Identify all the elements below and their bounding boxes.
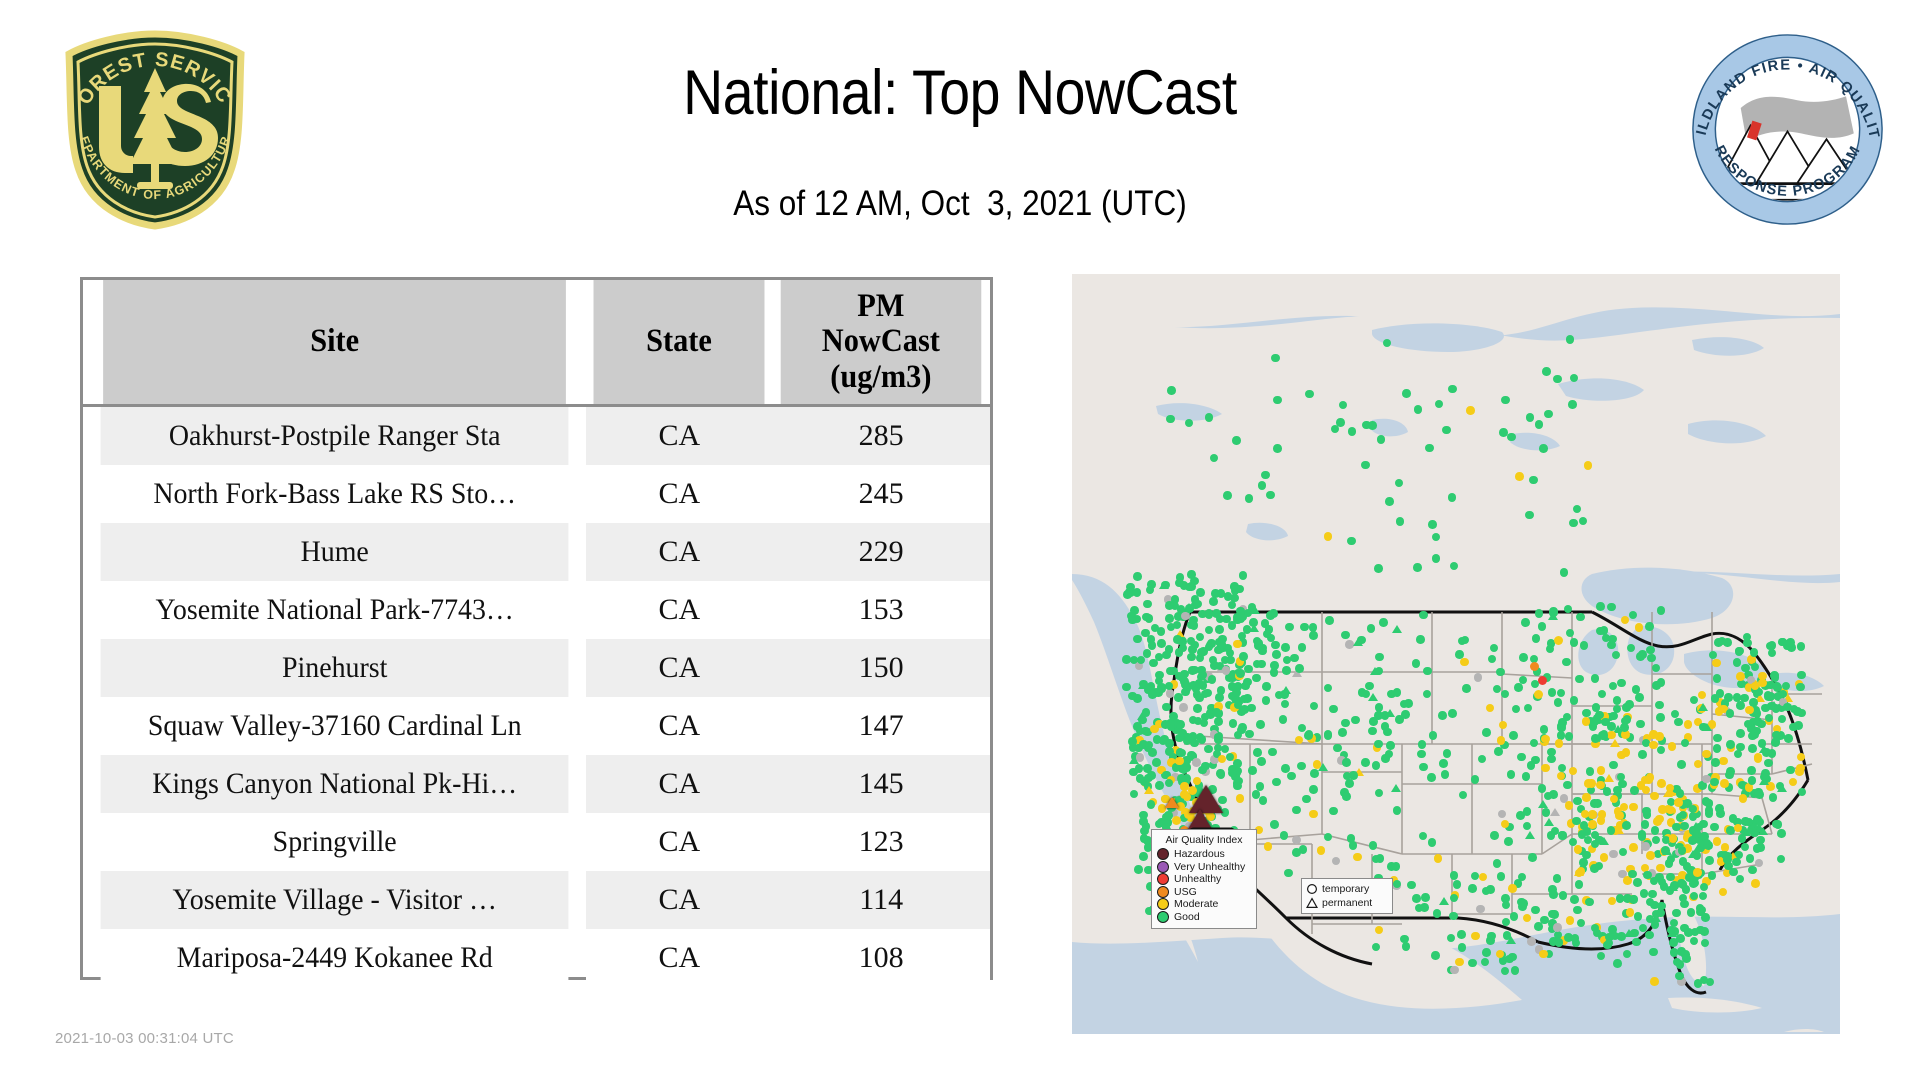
monitor-marker-temporary[interactable] bbox=[1218, 635, 1227, 644]
monitor-marker-temporary[interactable] bbox=[1674, 718, 1683, 727]
monitor-marker-temporary[interactable] bbox=[1724, 693, 1733, 702]
monitor-marker-temporary[interactable] bbox=[1497, 872, 1506, 881]
monitor-marker-temporary[interactable] bbox=[1290, 654, 1299, 663]
monitor-marker-temporary[interactable] bbox=[1407, 881, 1416, 890]
monitor-marker-temporary[interactable] bbox=[1622, 821, 1631, 830]
monitor-marker-temporary[interactable] bbox=[1272, 778, 1281, 787]
monitor-marker-temporary[interactable] bbox=[1750, 648, 1759, 657]
monitor-marker-temporary[interactable] bbox=[1248, 766, 1257, 775]
monitor-marker-temporary[interactable] bbox=[1148, 690, 1157, 699]
monitor-marker-permanent[interactable] bbox=[1249, 624, 1259, 632]
monitor-marker-temporary[interactable] bbox=[1450, 966, 1459, 975]
monitor-marker-temporary[interactable] bbox=[1736, 701, 1745, 710]
monitor-marker-temporary[interactable] bbox=[1757, 720, 1766, 729]
monitor-marker-temporary[interactable] bbox=[1741, 817, 1750, 826]
monitor-marker-temporary[interactable] bbox=[1133, 572, 1142, 581]
monitor-marker-temporary[interactable] bbox=[1783, 703, 1792, 712]
monitor-marker-temporary[interactable] bbox=[1128, 737, 1137, 746]
monitor-marker-temporary[interactable] bbox=[1736, 729, 1745, 738]
monitor-marker-temporary[interactable] bbox=[1574, 845, 1583, 854]
monitor-marker-permanent[interactable] bbox=[1604, 774, 1614, 782]
monitor-marker-temporary[interactable] bbox=[1429, 731, 1438, 740]
monitor-marker-temporary[interactable] bbox=[1526, 413, 1535, 422]
table-row[interactable]: Mariposa-2449 Kokanee RdCA108 bbox=[83, 929, 990, 987]
monitor-marker-temporary[interactable] bbox=[1162, 651, 1171, 660]
monitor-marker-temporary[interactable] bbox=[1143, 600, 1152, 609]
monitor-marker-temporary[interactable] bbox=[1341, 631, 1350, 640]
monitor-marker-temporary[interactable] bbox=[1145, 614, 1154, 623]
monitor-marker-temporary[interactable] bbox=[1764, 759, 1773, 768]
monitor-marker-temporary[interactable] bbox=[1412, 659, 1421, 668]
monitor-marker-temporary[interactable] bbox=[1565, 732, 1574, 741]
monitor-marker-temporary[interactable] bbox=[1700, 927, 1709, 936]
monitor-marker-temporary[interactable] bbox=[1272, 650, 1281, 659]
monitor-marker-temporary[interactable] bbox=[1641, 820, 1650, 829]
monitor-marker-temporary[interactable] bbox=[1657, 606, 1666, 615]
monitor-marker-permanent[interactable] bbox=[1281, 686, 1291, 694]
monitor-marker-permanent[interactable] bbox=[1250, 606, 1260, 614]
monitor-marker-temporary[interactable] bbox=[1374, 711, 1383, 720]
monitor-marker-temporary[interactable] bbox=[1600, 853, 1609, 862]
monitor-marker-temporary[interactable] bbox=[1766, 692, 1775, 701]
monitor-marker-temporary[interactable] bbox=[1413, 563, 1422, 572]
monitor-marker-temporary[interactable] bbox=[1482, 728, 1491, 737]
table-row[interactable]: HumeCA229 bbox=[83, 523, 990, 581]
monitor-marker-temporary[interactable] bbox=[1735, 647, 1744, 656]
monitor-marker-temporary[interactable] bbox=[1284, 869, 1293, 878]
monitor-marker-temporary[interactable] bbox=[1738, 834, 1747, 843]
monitor-marker-temporary[interactable] bbox=[1172, 816, 1181, 825]
table-row[interactable]: Kings Canyon National Pk-Hi…CA145 bbox=[83, 755, 990, 813]
monitor-marker-temporary[interactable] bbox=[1529, 476, 1538, 485]
monitor-marker-temporary[interactable] bbox=[1338, 728, 1347, 737]
monitor-marker-temporary[interactable] bbox=[1762, 748, 1771, 757]
monitor-marker-temporary[interactable] bbox=[1733, 658, 1742, 667]
monitor-marker-temporary[interactable] bbox=[1252, 674, 1261, 683]
monitor-marker-temporary[interactable] bbox=[1341, 719, 1350, 728]
monitor-marker-temporary[interactable] bbox=[1210, 661, 1219, 670]
monitor-marker-temporary[interactable] bbox=[1603, 787, 1612, 796]
monitor-marker-temporary[interactable] bbox=[1166, 667, 1175, 676]
monitor-marker-permanent[interactable] bbox=[1663, 789, 1673, 797]
monitor-marker-temporary[interactable] bbox=[1504, 837, 1513, 846]
monitor-marker-temporary[interactable] bbox=[1134, 865, 1143, 874]
monitor-marker-temporary[interactable] bbox=[1584, 461, 1593, 470]
monitor-marker-temporary[interactable] bbox=[1554, 698, 1563, 707]
monitor-marker-temporary[interactable] bbox=[1177, 774, 1186, 783]
monitor-marker-temporary[interactable] bbox=[1740, 694, 1749, 703]
monitor-marker-temporary[interactable] bbox=[1713, 674, 1722, 683]
monitor-marker-temporary[interactable] bbox=[1468, 884, 1477, 893]
monitor-marker-temporary[interactable] bbox=[1325, 616, 1334, 625]
monitor-marker-temporary[interactable] bbox=[1702, 750, 1711, 759]
monitor-marker-temporary[interactable] bbox=[1428, 520, 1437, 529]
column-header-site[interactable]: Site bbox=[103, 280, 566, 406]
monitor-marker-temporary[interactable] bbox=[1635, 693, 1644, 702]
monitor-marker-temporary[interactable] bbox=[1508, 884, 1517, 893]
monitor-marker-temporary[interactable] bbox=[1748, 732, 1757, 741]
monitor-marker-temporary[interactable] bbox=[1383, 728, 1392, 737]
monitor-marker-temporary[interactable] bbox=[1689, 812, 1698, 821]
table-row[interactable]: Oakhurst-Postpile Ranger StaCA285 bbox=[83, 406, 990, 466]
monitor-marker-temporary[interactable] bbox=[1270, 661, 1279, 670]
monitor-marker-temporary[interactable] bbox=[1636, 720, 1645, 729]
monitor-marker-temporary[interactable] bbox=[1333, 744, 1342, 753]
monitor-marker-temporary[interactable] bbox=[1746, 854, 1755, 863]
monitor-marker-permanent[interactable] bbox=[1187, 809, 1213, 831]
table-row[interactable]: Yosemite National Park-7743…CA153 bbox=[83, 581, 990, 639]
monitor-marker-temporary[interactable] bbox=[1438, 711, 1447, 720]
monitor-marker-temporary[interactable] bbox=[1657, 779, 1666, 788]
monitor-marker-temporary[interactable] bbox=[1157, 685, 1166, 694]
monitor-marker-temporary[interactable] bbox=[1457, 930, 1466, 939]
table-row[interactable]: Yosemite Village - Visitor …CA114 bbox=[83, 871, 990, 929]
monitor-marker-temporary[interactable] bbox=[1386, 741, 1395, 750]
monitor-marker-temporary[interactable] bbox=[1375, 653, 1384, 662]
monitor-marker-temporary[interactable] bbox=[1579, 858, 1588, 867]
monitor-marker-temporary[interactable] bbox=[1428, 838, 1437, 847]
monitor-marker-temporary[interactable] bbox=[1703, 839, 1712, 848]
monitor-marker-temporary[interactable] bbox=[1357, 636, 1366, 645]
monitor-marker-temporary[interactable] bbox=[1417, 750, 1426, 759]
monitor-marker-temporary[interactable] bbox=[1559, 891, 1568, 900]
monitor-marker-permanent[interactable] bbox=[1538, 800, 1548, 808]
monitor-marker-temporary[interactable] bbox=[1713, 837, 1722, 846]
monitor-marker-temporary[interactable] bbox=[1522, 772, 1531, 781]
monitor-marker-temporary[interactable] bbox=[1542, 367, 1551, 376]
monitor-marker-permanent[interactable] bbox=[1138, 681, 1148, 689]
monitor-marker-temporary[interactable] bbox=[1541, 735, 1550, 744]
monitor-marker-temporary[interactable] bbox=[1715, 804, 1724, 813]
monitor-marker-temporary[interactable] bbox=[1280, 831, 1289, 840]
monitor-marker-temporary[interactable] bbox=[1557, 772, 1566, 781]
monitor-marker-temporary[interactable] bbox=[1701, 913, 1710, 922]
monitor-marker-temporary[interactable] bbox=[1666, 873, 1675, 882]
monitor-marker-temporary[interactable] bbox=[1732, 858, 1741, 867]
monitor-marker-temporary[interactable] bbox=[1392, 862, 1401, 871]
monitor-marker-temporary[interactable] bbox=[1402, 389, 1411, 398]
monitor-marker-temporary[interactable] bbox=[1705, 856, 1714, 865]
monitor-marker-temporary[interactable] bbox=[1547, 831, 1556, 840]
monitor-marker-temporary[interactable] bbox=[1229, 719, 1238, 728]
monitor-marker-temporary[interactable] bbox=[1646, 851, 1655, 860]
monitor-marker-temporary[interactable] bbox=[1555, 938, 1564, 947]
monitor-marker-permanent[interactable] bbox=[1506, 936, 1516, 944]
monitor-marker-temporary[interactable] bbox=[1232, 688, 1241, 697]
monitor-marker-temporary[interactable] bbox=[1565, 801, 1574, 810]
monitor-marker-temporary[interactable] bbox=[1133, 635, 1142, 644]
monitor-marker-temporary[interactable] bbox=[1167, 386, 1176, 395]
monitor-marker-permanent[interactable] bbox=[1544, 818, 1554, 826]
monitor-marker-temporary[interactable] bbox=[1613, 696, 1622, 705]
monitor-marker-temporary[interactable] bbox=[1215, 625, 1224, 634]
monitor-marker-temporary[interactable] bbox=[1224, 592, 1233, 601]
monitor-marker-temporary[interactable] bbox=[1518, 902, 1527, 911]
monitor-marker-temporary[interactable] bbox=[1197, 648, 1206, 657]
monitor-marker-temporary[interactable] bbox=[1185, 583, 1194, 592]
table-row[interactable]: PinehurstCA150 bbox=[83, 639, 990, 697]
monitor-marker-temporary[interactable] bbox=[1317, 846, 1326, 855]
monitor-marker-temporary[interactable] bbox=[1617, 751, 1626, 760]
monitor-marker-temporary[interactable] bbox=[1496, 668, 1505, 677]
monitor-marker-temporary[interactable] bbox=[1570, 696, 1579, 705]
monitor-marker-temporary[interactable] bbox=[1187, 570, 1196, 579]
monitor-marker-temporary[interactable] bbox=[1769, 793, 1778, 802]
monitor-marker-temporary[interactable] bbox=[1279, 715, 1288, 724]
monitor-marker-temporary[interactable] bbox=[1395, 715, 1404, 724]
monitor-marker-temporary[interactable] bbox=[1478, 755, 1487, 764]
monitor-marker-temporary[interactable] bbox=[1153, 735, 1162, 744]
monitor-marker-temporary[interactable] bbox=[1216, 769, 1225, 778]
monitor-marker-temporary[interactable] bbox=[1476, 905, 1485, 914]
monitor-marker-temporary[interactable] bbox=[1562, 658, 1571, 667]
monitor-marker-temporary[interactable] bbox=[1772, 682, 1781, 691]
monitor-marker-temporary[interactable] bbox=[1313, 760, 1322, 769]
monitor-marker-temporary[interactable] bbox=[1262, 682, 1271, 691]
monitor-marker-temporary[interactable] bbox=[1176, 720, 1185, 729]
monitor-marker-temporary[interactable] bbox=[1273, 396, 1282, 405]
monitor-marker-temporary[interactable] bbox=[1514, 683, 1523, 692]
monitor-marker-temporary[interactable] bbox=[1421, 893, 1430, 902]
monitor-marker-temporary[interactable] bbox=[1596, 602, 1605, 611]
monitor-marker-permanent[interactable] bbox=[1662, 847, 1672, 855]
monitor-marker-temporary[interactable] bbox=[1233, 782, 1242, 791]
monitor-marker-temporary[interactable] bbox=[1232, 436, 1241, 445]
monitor-marker-temporary[interactable] bbox=[1509, 731, 1518, 740]
monitor-marker-temporary[interactable] bbox=[1555, 739, 1564, 748]
monitor-marker-temporary[interactable] bbox=[1193, 704, 1202, 713]
monitor-marker-temporary[interactable] bbox=[1608, 635, 1617, 644]
monitor-marker-temporary[interactable] bbox=[1573, 797, 1582, 806]
monitor-marker-temporary[interactable] bbox=[1677, 760, 1686, 769]
monitor-marker-temporary[interactable] bbox=[1690, 696, 1699, 705]
monitor-marker-temporary[interactable] bbox=[1693, 829, 1702, 838]
monitor-marker-temporary[interactable] bbox=[1214, 733, 1223, 742]
monitor-marker-temporary[interactable] bbox=[1300, 623, 1309, 632]
monitor-marker-temporary[interactable] bbox=[1179, 703, 1188, 712]
monitor-marker-temporary[interactable] bbox=[1374, 740, 1383, 749]
monitor-marker-temporary[interactable] bbox=[1638, 750, 1647, 759]
monitor-marker-temporary[interactable] bbox=[1568, 400, 1577, 409]
monitor-marker-temporary[interactable] bbox=[1497, 736, 1506, 745]
monitor-marker-temporary[interactable] bbox=[1629, 803, 1638, 812]
monitor-marker-temporary[interactable] bbox=[1669, 938, 1678, 947]
monitor-marker-permanent[interactable] bbox=[1698, 703, 1708, 711]
monitor-marker-temporary[interactable] bbox=[1324, 532, 1333, 541]
monitor-marker-temporary[interactable] bbox=[1122, 683, 1131, 692]
monitor-marker-temporary[interactable] bbox=[1548, 910, 1557, 919]
monitor-marker-temporary[interactable] bbox=[1468, 959, 1477, 968]
monitor-marker-temporary[interactable] bbox=[1439, 759, 1448, 768]
monitor-marker-temporary[interactable] bbox=[1656, 909, 1665, 918]
monitor-marker-temporary[interactable] bbox=[1198, 735, 1207, 744]
monitor-marker-temporary[interactable] bbox=[1148, 748, 1157, 757]
monitor-marker-temporary[interactable] bbox=[1527, 937, 1536, 946]
monitor-marker-permanent[interactable] bbox=[1599, 837, 1609, 845]
monitor-marker-temporary[interactable] bbox=[1448, 709, 1457, 718]
monitor-marker-temporary[interactable] bbox=[1777, 829, 1786, 838]
monitor-marker-temporary[interactable] bbox=[1176, 573, 1185, 582]
monitor-marker-temporary[interactable] bbox=[1155, 781, 1164, 790]
monitor-marker-temporary[interactable] bbox=[1496, 950, 1505, 959]
monitor-marker-temporary[interactable] bbox=[1793, 707, 1802, 716]
monitor-marker-temporary[interactable] bbox=[1240, 695, 1249, 704]
monitor-marker-temporary[interactable] bbox=[1233, 759, 1242, 768]
monitor-marker-temporary[interactable] bbox=[1329, 807, 1338, 816]
monitor-marker-temporary[interactable] bbox=[1204, 745, 1213, 754]
monitor-marker-temporary[interactable] bbox=[1273, 444, 1282, 453]
monitor-marker-temporary[interactable] bbox=[1400, 935, 1409, 944]
monitor-marker-temporary[interactable] bbox=[1228, 769, 1237, 778]
monitor-marker-temporary[interactable] bbox=[1760, 773, 1769, 782]
monitor-marker-temporary[interactable] bbox=[1745, 706, 1754, 715]
monitor-marker-temporary[interactable] bbox=[1569, 519, 1578, 528]
monitor-marker-temporary[interactable] bbox=[1786, 638, 1795, 647]
monitor-marker-temporary[interactable] bbox=[1511, 966, 1520, 975]
monitor-marker-temporary[interactable] bbox=[1123, 590, 1132, 599]
monitor-marker-temporary[interactable] bbox=[1655, 701, 1664, 710]
monitor-marker-temporary[interactable] bbox=[1549, 890, 1558, 899]
monitor-marker-temporary[interactable] bbox=[1747, 724, 1756, 733]
monitor-marker-temporary[interactable] bbox=[1716, 689, 1725, 698]
monitor-marker-temporary[interactable] bbox=[1268, 748, 1277, 757]
monitor-marker-temporary[interactable] bbox=[1538, 784, 1547, 793]
monitor-marker-temporary[interactable] bbox=[1549, 790, 1558, 799]
monitor-marker-temporary[interactable] bbox=[1244, 665, 1253, 674]
monitor-marker-temporary[interactable] bbox=[1393, 688, 1402, 697]
monitor-marker-temporary[interactable] bbox=[1166, 415, 1175, 424]
monitor-marker-temporary[interactable] bbox=[1169, 712, 1178, 721]
monitor-marker-temporary[interactable] bbox=[1136, 753, 1145, 762]
monitor-marker-temporary[interactable] bbox=[1266, 611, 1275, 620]
monitor-marker-temporary[interactable] bbox=[1358, 688, 1367, 697]
monitor-marker-temporary[interactable] bbox=[1282, 666, 1291, 675]
monitor-marker-temporary[interactable] bbox=[1607, 826, 1616, 835]
monitor-marker-temporary[interactable] bbox=[1412, 894, 1421, 903]
monitor-marker-temporary[interactable] bbox=[1587, 779, 1596, 788]
monitor-marker-temporary[interactable] bbox=[1548, 688, 1557, 697]
monitor-marker-temporary[interactable] bbox=[1784, 734, 1793, 743]
monitor-marker-permanent[interactable] bbox=[1165, 797, 1179, 808]
monitor-marker-temporary[interactable] bbox=[1233, 613, 1242, 622]
monitor-marker-temporary[interactable] bbox=[1297, 762, 1306, 771]
monitor-marker-temporary[interactable] bbox=[1672, 823, 1681, 832]
monitor-marker-temporary[interactable] bbox=[1678, 846, 1687, 855]
monitor-marker-temporary[interactable] bbox=[1534, 690, 1543, 699]
monitor-marker-temporary[interactable] bbox=[1175, 757, 1184, 766]
monitor-marker-temporary[interactable] bbox=[1192, 758, 1201, 767]
monitor-marker-temporary[interactable] bbox=[1432, 554, 1441, 563]
monitor-marker-temporary[interactable] bbox=[1342, 792, 1351, 801]
monitor-marker-temporary[interactable] bbox=[1135, 764, 1144, 773]
monitor-marker-temporary[interactable] bbox=[1383, 339, 1392, 348]
monitor-marker-temporary[interactable] bbox=[1575, 675, 1584, 684]
monitor-marker-temporary[interactable] bbox=[1710, 778, 1719, 787]
monitor-marker-temporary[interactable] bbox=[1416, 635, 1425, 644]
table-row[interactable]: SpringvilleCA123 bbox=[83, 813, 990, 871]
monitor-marker-temporary[interactable] bbox=[1636, 652, 1645, 661]
monitor-marker-temporary[interactable] bbox=[1185, 604, 1194, 613]
monitor-marker-temporary[interactable] bbox=[1705, 806, 1714, 815]
monitor-marker-temporary[interactable] bbox=[1710, 823, 1719, 832]
monitor-marker-temporary[interactable] bbox=[1585, 898, 1594, 907]
monitor-marker-temporary[interactable] bbox=[1292, 836, 1301, 845]
monitor-marker-temporary[interactable] bbox=[1682, 954, 1691, 963]
monitor-marker-temporary[interactable] bbox=[1582, 851, 1591, 860]
monitor-marker-temporary[interactable] bbox=[1486, 885, 1495, 894]
monitor-marker-temporary[interactable] bbox=[1625, 700, 1634, 709]
monitor-marker-temporary[interactable] bbox=[1379, 618, 1388, 627]
monitor-marker-temporary[interactable] bbox=[1209, 597, 1218, 606]
monitor-marker-temporary[interactable] bbox=[1653, 817, 1662, 826]
table-row[interactable]: North Fork-Bass Lake RS Sto…CA245 bbox=[83, 465, 990, 523]
monitor-marker-temporary[interactable] bbox=[1427, 773, 1436, 782]
monitor-marker-temporary[interactable] bbox=[1479, 873, 1488, 882]
monitor-marker-temporary[interactable] bbox=[1607, 731, 1616, 740]
monitor-marker-temporary[interactable] bbox=[1580, 641, 1589, 650]
monitor-marker-temporary[interactable] bbox=[1351, 716, 1360, 725]
monitor-marker-temporary[interactable] bbox=[1178, 637, 1187, 646]
monitor-marker-temporary[interactable] bbox=[1147, 800, 1156, 809]
monitor-marker-temporary[interactable] bbox=[1329, 705, 1338, 714]
monitor-marker-temporary[interactable] bbox=[1261, 471, 1270, 480]
monitor-marker-temporary[interactable] bbox=[1460, 658, 1469, 667]
monitor-marker-temporary[interactable] bbox=[1539, 444, 1548, 453]
monitor-marker-temporary[interactable] bbox=[1570, 638, 1579, 647]
monitor-marker-temporary[interactable] bbox=[1494, 747, 1503, 756]
monitor-marker-temporary[interactable] bbox=[1309, 631, 1318, 640]
monitor-marker-temporary[interactable] bbox=[1128, 692, 1137, 701]
monitor-marker-temporary[interactable] bbox=[1372, 761, 1381, 770]
monitor-marker-temporary[interactable] bbox=[1309, 810, 1318, 819]
monitor-marker-temporary[interactable] bbox=[1462, 684, 1471, 693]
monitor-marker-temporary[interactable] bbox=[1748, 866, 1757, 875]
monitor-marker-temporary[interactable] bbox=[1253, 748, 1262, 757]
monitor-marker-temporary[interactable] bbox=[1698, 691, 1707, 700]
monitor-marker-temporary[interactable] bbox=[1582, 717, 1591, 726]
monitor-marker-temporary[interactable] bbox=[1797, 671, 1806, 680]
monitor-marker-temporary[interactable] bbox=[1750, 829, 1759, 838]
monitor-marker-temporary[interactable] bbox=[1720, 779, 1729, 788]
monitor-marker-temporary[interactable] bbox=[1596, 781, 1605, 790]
monitor-marker-temporary[interactable] bbox=[1240, 705, 1249, 714]
monitor-marker-temporary[interactable] bbox=[1448, 493, 1457, 502]
monitor-marker-temporary[interactable] bbox=[1620, 723, 1629, 732]
monitor-marker-temporary[interactable] bbox=[1748, 744, 1757, 753]
monitor-marker-temporary[interactable] bbox=[1648, 890, 1657, 899]
monitor-marker-temporary[interactable] bbox=[1713, 744, 1722, 753]
monitor-marker-temporary[interactable] bbox=[1361, 461, 1370, 470]
monitor-marker-temporary[interactable] bbox=[1684, 928, 1693, 937]
monitor-marker-temporary[interactable] bbox=[1181, 688, 1190, 697]
monitor-marker-temporary[interactable] bbox=[1645, 931, 1654, 940]
monitor-marker-temporary[interactable] bbox=[1188, 734, 1197, 743]
monitor-marker-temporary[interactable] bbox=[1789, 723, 1798, 732]
monitor-marker-temporary[interactable] bbox=[1660, 882, 1669, 891]
monitor-marker-permanent[interactable] bbox=[1368, 693, 1378, 701]
monitor-marker-temporary[interactable] bbox=[1597, 816, 1606, 825]
monitor-marker-temporary[interactable] bbox=[1601, 718, 1610, 727]
monitor-marker-temporary[interactable] bbox=[1588, 810, 1597, 819]
monitor-marker-temporary[interactable] bbox=[1474, 673, 1483, 682]
monitor-marker-temporary[interactable] bbox=[1239, 652, 1248, 661]
monitor-marker-permanent[interactable] bbox=[1610, 739, 1620, 747]
monitor-marker-temporary[interactable] bbox=[1634, 912, 1643, 921]
monitor-marker-permanent[interactable] bbox=[1769, 701, 1779, 709]
monitor-marker-temporary[interactable] bbox=[1420, 903, 1429, 912]
monitor-marker-temporary[interactable] bbox=[1393, 806, 1402, 815]
monitor-marker-temporary[interactable] bbox=[1656, 713, 1665, 722]
